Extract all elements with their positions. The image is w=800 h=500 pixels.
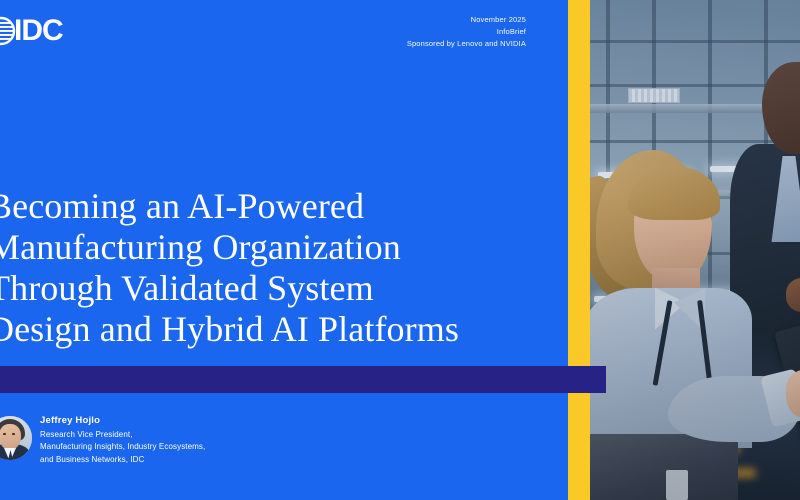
idc-globe-icon: [0, 16, 16, 46]
title-line-3: Through Validated System: [0, 268, 558, 309]
window-mullion-icon: [590, 140, 800, 143]
idc-logo[interactable]: IDC: [0, 14, 78, 48]
cover-photo: [590, 0, 800, 500]
title-line-2: Manufacturing Organization: [0, 227, 558, 268]
avatar-face: [0, 424, 21, 450]
avatar-eye: [3, 433, 6, 435]
person-1-skirt: [590, 434, 738, 500]
ceiling-vent: [628, 88, 680, 103]
idc-logo-text: IDC: [14, 16, 63, 46]
author-role-line-3: and Business Networks, IDC: [40, 454, 205, 466]
publication-date: November 2025: [407, 14, 526, 26]
document-type: InfoBrief: [407, 26, 526, 38]
accent-stripe-yellow: [568, 0, 590, 500]
author-role: Research Vice President, Manufacturing I…: [40, 429, 205, 466]
report-cover: IDC November 2025 InfoBrief Sponsored by…: [0, 0, 800, 500]
sponsor-line: Sponsored by Lenovo and NVIDIA: [407, 38, 526, 50]
author-role-line-1: Research Vice President,: [40, 429, 205, 441]
window-mullion-icon: [708, 0, 712, 310]
person-1-badge: [666, 470, 688, 500]
avatar: [0, 416, 32, 460]
author-name: Jeffrey Hojlo: [40, 415, 205, 428]
author-role-line-2: Manufacturing Insights, Industry Ecosyst…: [40, 441, 205, 453]
page-title: Becoming an AI-Powered Manufacturing Org…: [0, 186, 558, 350]
window-mullion-icon: [590, 40, 800, 43]
title-line-1: Becoming an AI-Powered: [0, 186, 558, 227]
author-text: Jeffrey Hojlo Research Vice President, M…: [40, 414, 205, 466]
author-block: Jeffrey Hojlo Research Vice President, M…: [0, 414, 205, 466]
accent-bar-navy: [0, 366, 606, 393]
title-line-4: Design and Hybrid AI Platforms: [0, 309, 558, 350]
cover-meta: November 2025 InfoBrief Sponsored by Len…: [407, 14, 526, 50]
avatar-eye: [12, 433, 15, 435]
